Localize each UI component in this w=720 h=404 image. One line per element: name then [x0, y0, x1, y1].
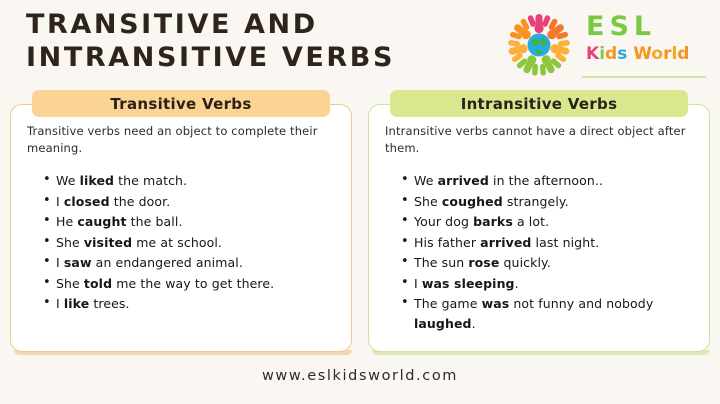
page-title: TRANSITIVE AND INTRANSITIVE VERBS: [26, 8, 496, 74]
sentence-text: .: [515, 276, 519, 291]
sentence-text: the door.: [110, 194, 171, 209]
sentence-text: a lot.: [513, 214, 549, 229]
sentence-text: We: [56, 173, 80, 188]
sentence-text: me the way to get there.: [112, 276, 274, 291]
sentence-text: the ball.: [127, 214, 183, 229]
sentence-text: Your dog: [414, 214, 473, 229]
highlighted-verb: laughed: [414, 316, 472, 331]
list-item: His father arrived last night.: [401, 233, 695, 253]
sentence-text: not funny and nobody: [509, 296, 653, 311]
transitive-heading-label: Transitive Verbs: [110, 95, 251, 113]
highlighted-verb: saw: [64, 255, 92, 270]
sentence-text: I: [56, 255, 64, 270]
intransitive-verbs-panel: Intransitive verbs cannot have a direct …: [368, 104, 710, 352]
sentence-text: His father: [414, 235, 480, 250]
sentence-text: We: [414, 173, 438, 188]
sentence-text: in the afternoon..: [489, 173, 603, 188]
intransitive-intro-text: Intransitive verbs cannot have a direct …: [385, 123, 695, 157]
list-item: The game was not funny and nobody laughe…: [401, 294, 695, 333]
intransitive-heading-label: Intransitive Verbs: [461, 95, 618, 113]
footer-url[interactable]: www.eslkidsworld.com: [0, 368, 720, 384]
sentence-text: me at school.: [132, 235, 222, 250]
highlighted-verb: like: [64, 296, 89, 311]
intransitive-examples-list: We arrived in the afternoon..She coughed…: [385, 171, 695, 333]
sentence-text: She: [56, 235, 84, 250]
brand-wordmark: ESL Kids World: [582, 10, 708, 74]
highlighted-verb: was: [482, 296, 510, 311]
header: TRANSITIVE AND INTRANSITIVE VERBS: [0, 0, 720, 88]
brand-letter: s: [617, 44, 627, 64]
sentence-text: the match.: [114, 173, 187, 188]
highlighted-verb: arrived: [438, 173, 489, 188]
list-item: I closed the door.: [43, 192, 337, 212]
brand-letter: d: [605, 44, 617, 64]
list-item: I saw an endangered animal.: [43, 253, 337, 273]
list-item: We arrived in the afternoon..: [401, 171, 695, 191]
highlighted-verb: was sleeping: [422, 276, 515, 291]
transitive-heading-pill: Transitive Verbs: [32, 90, 330, 117]
intransitive-heading-pill: Intransitive Verbs: [390, 90, 688, 117]
list-item: He caught the ball.: [43, 212, 337, 232]
list-item: She told me the way to get there.: [43, 274, 337, 294]
highlighted-verb: closed: [64, 194, 110, 209]
list-item: I was sleeping.: [401, 274, 695, 294]
highlighted-verb: rose: [468, 255, 499, 270]
list-item: She coughed strangely.: [401, 192, 695, 212]
globe-people-icon: [502, 8, 576, 82]
list-item: I like trees.: [43, 294, 337, 314]
sentence-text: strangely.: [503, 194, 569, 209]
transitive-panel-body: Transitive verbs need an object to compl…: [11, 123, 351, 315]
sentence-text: I: [56, 194, 64, 209]
sentence-text: I: [56, 296, 64, 311]
brand-kids-world-text: Kids World: [582, 44, 708, 64]
intransitive-panel-body: Intransitive verbs cannot have a direct …: [369, 123, 709, 334]
infographic-page: TRANSITIVE AND INTRANSITIVE VERBS: [0, 0, 720, 404]
list-item: We liked the match.: [43, 171, 337, 191]
highlighted-verb: coughed: [442, 194, 503, 209]
highlighted-verb: liked: [80, 173, 114, 188]
page-title-line-1: TRANSITIVE AND: [26, 8, 496, 41]
sentence-text: .: [472, 316, 476, 331]
sentence-text: He: [56, 214, 77, 229]
brand-letter: d: [677, 44, 689, 64]
brand-logo[interactable]: ESL Kids World: [494, 6, 712, 82]
list-item: Your dog barks a lot.: [401, 212, 695, 232]
sentence-text: I: [414, 276, 422, 291]
highlighted-verb: barks: [473, 214, 513, 229]
list-item: The sun rose quickly.: [401, 253, 695, 273]
transitive-intro-text: Transitive verbs need an object to compl…: [27, 123, 337, 157]
highlighted-verb: arrived: [480, 235, 531, 250]
sentence-text: quickly.: [499, 255, 550, 270]
sentence-text: The sun: [414, 255, 468, 270]
highlighted-verb: visited: [84, 235, 132, 250]
brand-letter: W: [633, 44, 651, 64]
sentence-text: an endangered animal.: [92, 255, 243, 270]
brand-letter: o: [651, 44, 663, 64]
transitive-verbs-panel: Transitive verbs need an object to compl…: [10, 104, 352, 352]
highlighted-verb: caught: [77, 214, 126, 229]
brand-underline: [582, 76, 706, 78]
brand-esl-text: ESL: [582, 10, 708, 44]
sentence-text: The game: [414, 296, 482, 311]
transitive-examples-list: We liked the match.I closed the door.He …: [27, 171, 337, 314]
page-title-line-2: INTRANSITIVE VERBS: [26, 41, 496, 74]
highlighted-verb: told: [84, 276, 112, 291]
sentence-text: She: [56, 276, 84, 291]
brand-letter: K: [586, 44, 599, 64]
sentence-text: She: [414, 194, 442, 209]
sentence-text: trees.: [89, 296, 129, 311]
sentence-text: last night.: [531, 235, 599, 250]
list-item: She visited me at school.: [43, 233, 337, 253]
